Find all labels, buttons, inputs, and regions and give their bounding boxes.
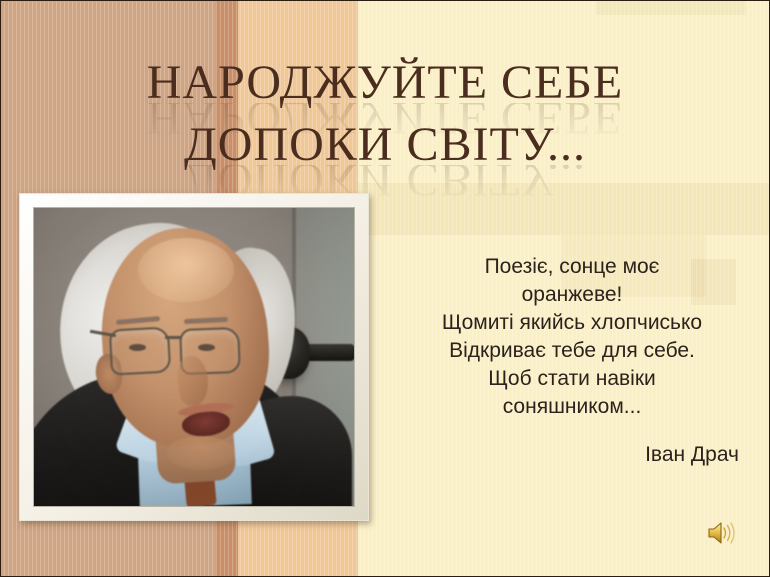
poem-text: Поезіє, сонце моє оранжеве! Щомиті якийс… (397, 253, 747, 421)
sound-speaker-icon[interactable] (707, 520, 737, 546)
poem-line-5: Щоб стати навіки (397, 365, 747, 393)
eyeglasses-bridge (165, 336, 182, 339)
poem-line-4: Відкриває тебе для себе. (397, 337, 747, 365)
forehead-highlight (138, 238, 234, 302)
decorative-rect-wide (358, 183, 769, 235)
poem-line-2: оранжеве! (397, 281, 747, 309)
decorative-rect-top (596, 1, 746, 15)
poem-line-6: соняшником... (397, 393, 747, 421)
photo-frame[interactable] (19, 193, 369, 521)
eyeglasses-lens-left (109, 326, 171, 375)
poem-author: Іван Драч (397, 441, 739, 469)
presentation-slide: НАРОДЖУЙТЕ СЕБЕ НАРОДЖУЙТЕ СЕБЕ ДОПОКИ С… (0, 0, 770, 577)
chin (166, 436, 236, 470)
sound-speaker-glyph (707, 520, 737, 546)
poem-line-1: Поезіє, сонце моє (397, 253, 747, 281)
portrait-photo (33, 207, 355, 507)
poem-line-3: Щомиті якийсь хлопчисько (397, 309, 747, 337)
